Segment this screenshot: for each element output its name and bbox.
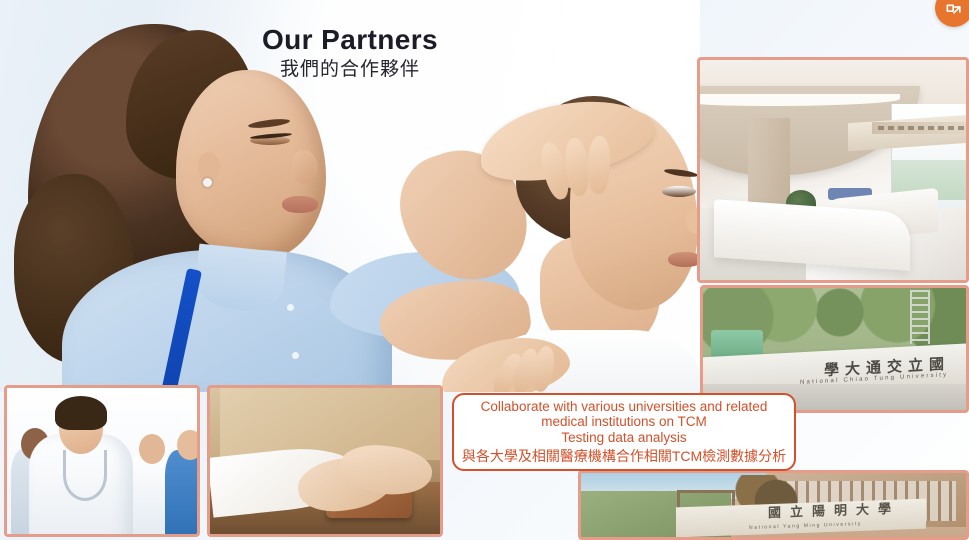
title-chinese: 我們的合作夥伴 [0, 59, 700, 82]
share-icon [944, 2, 964, 22]
client-eye [662, 186, 696, 197]
caption-line-2: medical institutions on TCM [541, 414, 707, 430]
therapist-earring [203, 178, 212, 187]
team-member [165, 450, 200, 537]
hospital-signboard [872, 122, 969, 134]
nctu-ladder [910, 290, 930, 344]
slide-our-partners: Our Partners 我們的合作夥伴 學大通交立國 National Chi… [0, 0, 969, 540]
photo-medical-team [4, 385, 200, 537]
page-title: Our Partners 我們的合作夥伴 [0, 24, 700, 82]
caption-line-3: Testing data analysis [561, 430, 686, 446]
patient-sleeve [220, 388, 443, 460]
caption-box: Collaborate with various universities an… [452, 393, 796, 471]
photo-yangming-campus: 國立陽明大學 National Yang Ming University [578, 470, 969, 540]
photo-pulse-diagnosis [207, 385, 443, 537]
team-member-head [139, 434, 165, 464]
title-english: Our Partners [0, 24, 700, 56]
therapist-lips [282, 196, 318, 213]
scrubs-button [287, 304, 294, 311]
stethoscope-icon [63, 450, 107, 501]
scrubs-button [292, 352, 299, 359]
client-lips [668, 252, 700, 267]
share-export-badge[interactable] [935, 0, 969, 27]
therapist-nose [292, 150, 318, 184]
caption-line-1: Collaborate with various universities an… [481, 399, 768, 415]
lead-doctor-hair [55, 396, 107, 430]
caption-line-chinese: 與各大學及相關醫療機構合作相關TCM檢測數據分析 [462, 447, 786, 465]
team-member-head [177, 430, 200, 460]
photo-hospital-lobby [697, 57, 969, 283]
